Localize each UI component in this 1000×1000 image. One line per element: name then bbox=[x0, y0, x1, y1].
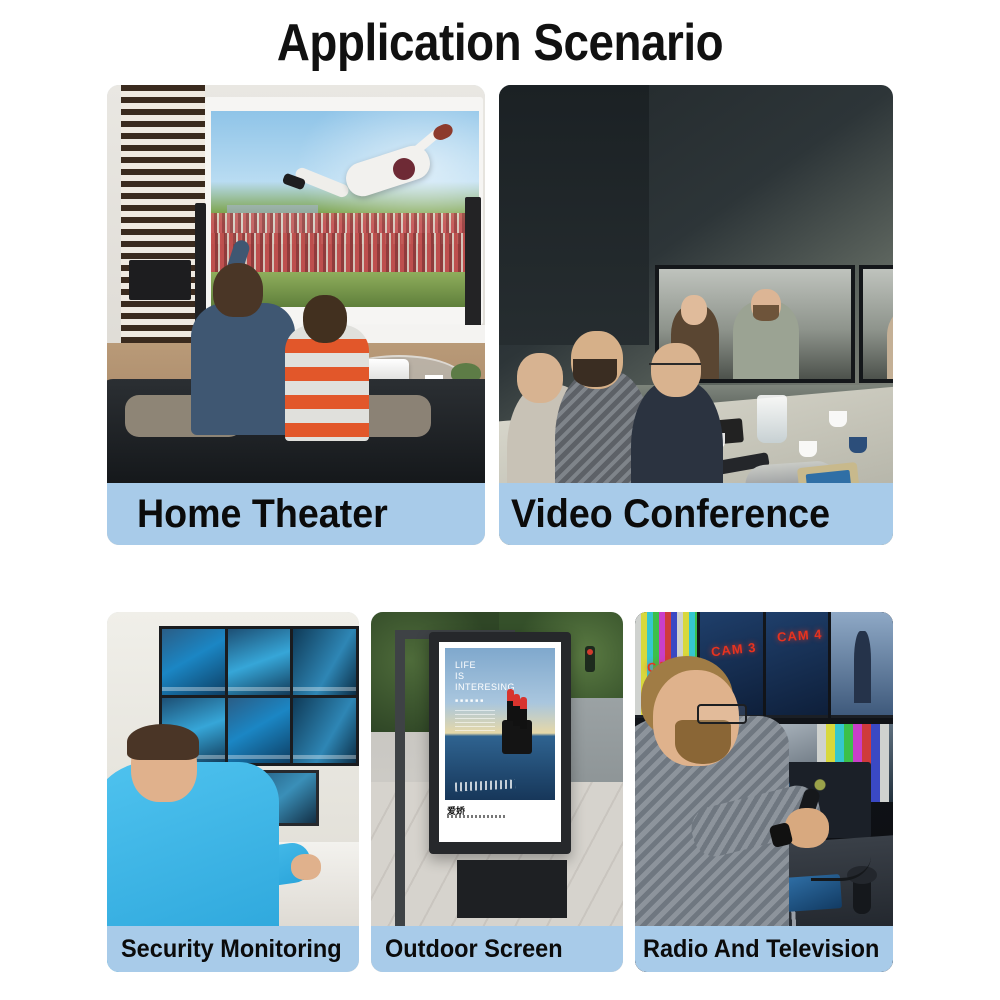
cctv-tile bbox=[293, 698, 356, 764]
wall-speaker bbox=[129, 260, 191, 300]
traffic-light-icon bbox=[585, 646, 595, 672]
camera-tally-label-4: CAM 4 bbox=[777, 626, 823, 644]
paper-cup-2 bbox=[829, 411, 847, 427]
cctv-tile bbox=[162, 629, 225, 695]
father-body bbox=[191, 303, 295, 435]
home-theater-scene bbox=[107, 85, 485, 545]
operator-hand bbox=[291, 854, 321, 880]
poster-headline-line-1: LIFE bbox=[455, 660, 515, 671]
right-tower-speaker bbox=[465, 197, 481, 335]
cctv-tile bbox=[228, 698, 291, 764]
scenario-card-security-monitoring[interactable]: Security Monitoring bbox=[107, 612, 359, 972]
poster-body-text bbox=[455, 710, 495, 732]
dark-wall-panel bbox=[499, 85, 649, 345]
caption-radio-and-television: Radio And Television bbox=[635, 926, 893, 972]
paper-cup-3 bbox=[799, 441, 817, 457]
caption-label: Radio And Television bbox=[643, 935, 879, 964]
engineer-glasses-icon bbox=[697, 704, 747, 724]
poster-signature bbox=[455, 779, 515, 791]
billboard-base bbox=[457, 860, 567, 918]
caption-label: Outdoor Screen bbox=[385, 935, 563, 964]
engineer-beard bbox=[675, 720, 731, 764]
remote-participant-1-head bbox=[681, 295, 707, 325]
cctv-tile bbox=[228, 629, 291, 695]
remote-participant-3 bbox=[887, 307, 893, 379]
security-monitoring-scene bbox=[107, 612, 359, 972]
attendee-1-head bbox=[517, 353, 563, 403]
scenario-card-video-conference[interactable]: Video Conference bbox=[499, 85, 893, 545]
father-head bbox=[213, 263, 263, 317]
remote-video-feed-right bbox=[863, 269, 893, 379]
caption-label: Home Theater bbox=[137, 492, 388, 537]
billboard-pole bbox=[395, 630, 405, 930]
lipstick-3 bbox=[520, 707, 527, 729]
cctv-tile bbox=[293, 629, 356, 695]
poster-headline-line-2: IS bbox=[455, 671, 515, 682]
scenario-card-outdoor-screen[interactable]: LIFE IS INTERESING ■■■■■■ 爱娇 Outdoor Scr… bbox=[371, 612, 623, 972]
caption-home-theater: Home Theater bbox=[107, 483, 485, 545]
scenario-card-radio-and-television[interactable]: CAM 2 CAM 3 CAM 4 Radio And Television bbox=[635, 612, 893, 972]
operator-hair bbox=[127, 724, 199, 760]
video-conference-scene bbox=[499, 85, 893, 545]
child-head bbox=[303, 295, 347, 343]
page-title: Application Scenario bbox=[60, 8, 940, 78]
caption-security-monitoring: Security Monitoring bbox=[107, 926, 359, 972]
poster-artwork: LIFE IS INTERESING ■■■■■■ bbox=[445, 648, 555, 800]
scenario-card-home-theater[interactable]: Home Theater bbox=[107, 85, 485, 545]
poster-brand-underline bbox=[447, 815, 507, 818]
console-joystick bbox=[853, 874, 871, 914]
poster-subtitle: ■■■■■■ bbox=[455, 698, 485, 704]
caption-outdoor-screen: Outdoor Screen bbox=[371, 926, 623, 972]
attendee-2-beard bbox=[573, 359, 617, 387]
caption-label: Video Conference bbox=[511, 492, 830, 537]
paper-cup-4 bbox=[849, 437, 867, 453]
caption-video-conference: Video Conference bbox=[499, 483, 893, 545]
radio-television-scene: CAM 2 CAM 3 CAM 4 bbox=[635, 612, 893, 972]
presenter-feed bbox=[831, 612, 893, 715]
caption-label: Security Monitoring bbox=[121, 935, 342, 964]
poster-headline: LIFE IS INTERESING bbox=[455, 660, 515, 693]
conference-display-right bbox=[859, 265, 893, 383]
water-pitcher bbox=[757, 395, 787, 443]
outdoor-screen-scene: LIFE IS INTERESING ■■■■■■ 爱娇 bbox=[371, 612, 623, 972]
remote-participant-2-beard bbox=[753, 305, 779, 321]
attendee-3-glasses-icon bbox=[649, 363, 701, 373]
overhead-monitor bbox=[831, 612, 893, 718]
